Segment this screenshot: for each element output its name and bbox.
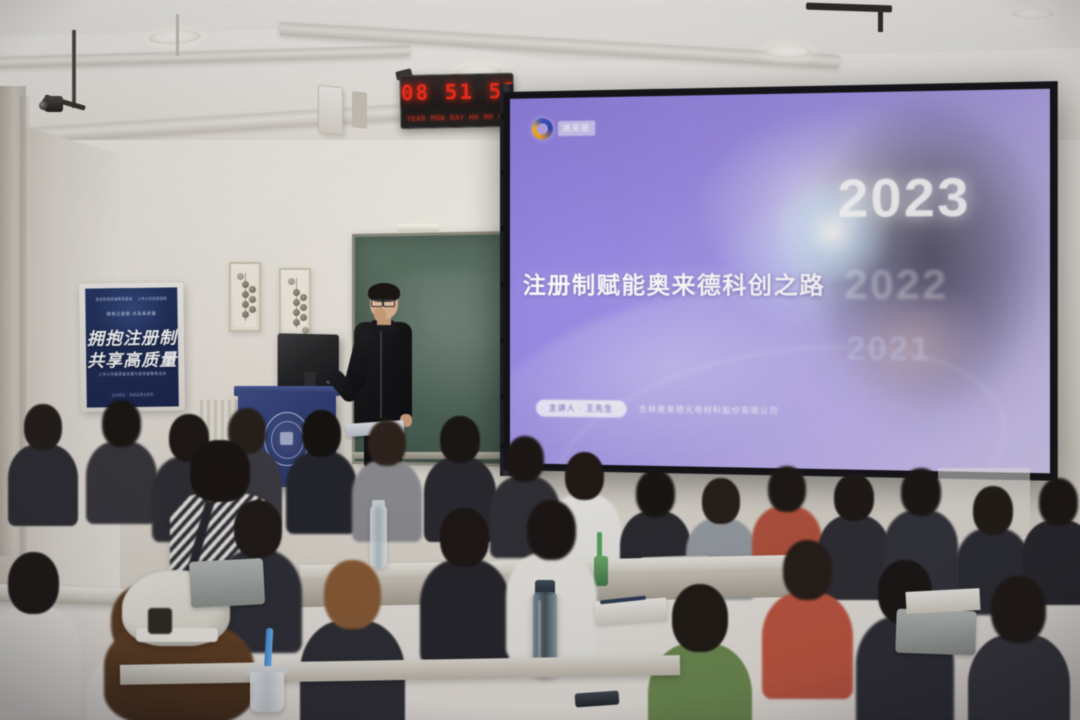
chair-back bbox=[895, 609, 976, 656]
audience-shoulders bbox=[968, 634, 1070, 720]
audience-person bbox=[968, 576, 1070, 720]
audience-head bbox=[234, 500, 282, 558]
audience-head bbox=[991, 576, 1046, 643]
audience-person bbox=[420, 508, 510, 662]
audience-person bbox=[300, 560, 405, 720]
audience-head bbox=[527, 500, 576, 560]
audience-person bbox=[762, 540, 853, 696]
audience-shoulders bbox=[762, 592, 853, 699]
audience-head bbox=[672, 584, 728, 652]
paper-sheet bbox=[905, 588, 980, 614]
chair-back bbox=[189, 558, 265, 608]
cap-back-gap bbox=[148, 608, 172, 634]
drink-cup bbox=[250, 672, 284, 712]
audience-shoulders bbox=[0, 606, 81, 717]
audience-head bbox=[324, 560, 381, 629]
lecture-hall-photo: 08 51 53 YEAR MON DAY HH MM SS bbox=[0, 0, 1080, 720]
audience-head bbox=[8, 552, 59, 614]
audience-head bbox=[783, 540, 832, 600]
audience-shoulders bbox=[420, 559, 510, 664]
audience-person bbox=[0, 552, 81, 714]
audience-head bbox=[440, 508, 489, 567]
